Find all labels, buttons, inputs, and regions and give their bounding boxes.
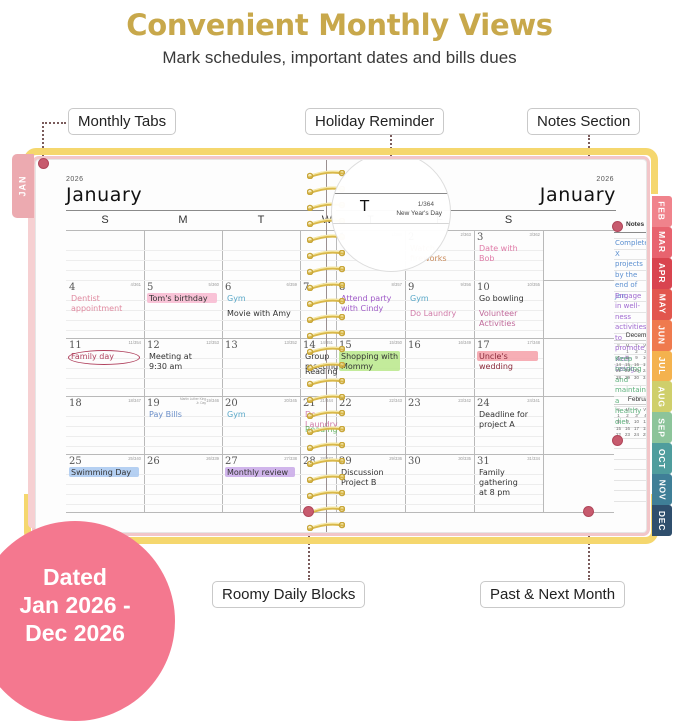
calendar-day-cell[interactable]: 3030/335 [405, 454, 474, 512]
event-text[interactable]: Attend party with Cindy [341, 294, 402, 314]
spiral-coil [307, 374, 345, 383]
mini-day[interactable] [632, 438, 641, 444]
day-number: 12 [147, 340, 160, 351]
day-number: 10 [477, 282, 490, 293]
event-text[interactable]: Discussion Project B [341, 468, 402, 488]
month-tab-oct[interactable]: OCT [652, 443, 672, 474]
day-counter: 11/354 [129, 340, 142, 345]
page-header: Convenient Monthly Views Mark schedules,… [0, 0, 679, 68]
notes-rule [614, 490, 646, 491]
event-text[interactable]: Family gathering at 8 pm [479, 468, 540, 498]
left-page-year: 2026 [66, 176, 84, 183]
day-number: 18 [69, 398, 82, 409]
event-text[interactable]: Monthly review [227, 468, 297, 478]
sidebar-tab-jan-label: JAN [18, 175, 28, 196]
month-tab-aug[interactable]: AUG [652, 381, 672, 412]
calendar-day-cell[interactable]: 1717/348Uncle's wedding [474, 338, 543, 396]
day-number: 27 [225, 456, 238, 467]
day-counter: 3/362 [530, 232, 540, 237]
right-page-month: January [540, 184, 616, 206]
notes-rule [614, 469, 646, 470]
month-tab-jun[interactable]: JUN [652, 320, 672, 351]
mini-month-table: SMTWTFS123456789101112131415161718192021… [614, 342, 646, 380]
spiral-coil [307, 390, 345, 399]
planner-spread: 2026 January 2026 January SMTWTFS 11/364… [24, 148, 658, 544]
spiral-coil [307, 486, 345, 495]
month-tab-label: MAY [657, 294, 667, 315]
month-tab-label: JUN [657, 325, 667, 344]
day-counter: 18/347 [128, 398, 141, 403]
day-counter: 13/352 [284, 340, 297, 345]
callout-roomy-daily-blocks: Roomy Daily Blocks [212, 581, 365, 608]
dated-range-badge: Dated Jan 2026 - Dec 2026 [0, 521, 175, 721]
spiral-coil [307, 294, 345, 303]
left-header-rule [66, 210, 324, 211]
mag-rule-mid [332, 223, 450, 224]
month-tab-nov[interactable]: NOV [652, 474, 672, 505]
day-of-week-6: S [499, 214, 519, 226]
calendar-day-cell[interactable]: 1616/349 [405, 338, 474, 396]
event-text[interactable]: Do Laundry [410, 309, 471, 319]
spiral-coil [307, 166, 345, 175]
mini-day[interactable]: 29 [623, 374, 632, 380]
day-counter: 20/345 [284, 398, 297, 403]
badge-line-3: Dec 2026 [0, 619, 175, 647]
notes-rule [614, 480, 646, 481]
day-counter: 26/339 [206, 456, 219, 461]
day-counter: 8/357 [392, 282, 402, 287]
mini-month-rule [614, 340, 646, 341]
day-counter: 27/338 [284, 456, 297, 461]
day-counter: 9/356 [461, 282, 471, 287]
mini-day[interactable]: 31 [641, 374, 646, 380]
mini-month-previous[interactable]: December 2025SMTWTFS12345678910111213141… [614, 332, 646, 380]
event-text[interactable]: Family day [71, 352, 141, 362]
calendar-day-cell[interactable]: 1010/355Go bowlingVolunteer Activities [474, 280, 543, 338]
calendar-day-cell[interactable]: 99/356GymDo Laundry [405, 280, 474, 338]
notes-dot-icon [612, 221, 623, 232]
notes-rule [614, 232, 646, 233]
month-tab-strip[interactable]: FEBMARAPRMAYJUNJULAUGSEPOCTNOVDEC [652, 196, 672, 536]
mag-day-counter: 1/364 [418, 201, 434, 208]
grid-vline-6 [543, 230, 544, 512]
spiral-coil [307, 358, 345, 367]
event-text[interactable]: Gym [227, 294, 297, 304]
notes-rule [614, 459, 646, 460]
month-tab-label: MAR [657, 231, 667, 253]
calendar-day-cell[interactable]: 1919/346Martin Luther King Jr. DayPay Bi… [144, 396, 222, 454]
day-number: 11 [69, 340, 82, 351]
spiral-coil [307, 518, 345, 527]
day-counter: 10/355 [527, 282, 540, 287]
calendar-day-cell[interactable]: 2323/342 [405, 396, 474, 454]
event-text[interactable]: Gym [410, 294, 471, 304]
spiral-coil [307, 454, 345, 463]
day-counter: 22/343 [389, 398, 402, 403]
mag-holiday-name: New Year's Day [396, 210, 442, 217]
day-counter: 25/340 [128, 456, 141, 461]
day-counter: 19/346 [206, 398, 219, 403]
month-tab-jul[interactable]: JUL [652, 351, 672, 382]
calendar-day-cell[interactable]: 1212/353Meeting at 9:30 am [144, 338, 222, 396]
day-number: 16 [408, 340, 421, 351]
mini-month-title: February 2026 [614, 396, 646, 403]
calendar-day-cell[interactable]: 1313/352 [222, 338, 300, 396]
spiral-coil [307, 470, 345, 479]
calendar-day-cell[interactable]: 2525/340Swimming Day [66, 454, 144, 512]
event-text[interactable]: Go bowling [479, 294, 540, 304]
left-page-month: January [66, 184, 142, 206]
month-tab-label: APR [657, 263, 667, 283]
calendar-day-cell[interactable]: 2020/345Gym [222, 396, 300, 454]
day-counter: 29/336 [389, 456, 402, 461]
calendar-day-cell[interactable]: 2626/339 [144, 454, 222, 512]
day-number: 20 [225, 398, 238, 409]
mini-day[interactable] [623, 438, 632, 444]
event-text[interactable]: Tom's birthday [149, 294, 219, 304]
planner-page: 2026 January 2026 January SMTWTFS 11/364… [36, 160, 646, 532]
month-tab-sep[interactable]: SEP [652, 412, 672, 443]
event-text[interactable]: Meeting at 9:30 am [149, 352, 219, 372]
page-subtitle: Mark schedules, important dates and bill… [0, 48, 679, 68]
month-tab-apr[interactable]: APR [652, 258, 672, 289]
day-number: 6 [225, 282, 231, 293]
callout-notes-section: Notes Section [527, 108, 640, 135]
day-counter: 4/361 [131, 282, 141, 287]
day-number: 5 [147, 282, 153, 293]
month-tab-label: AUG [657, 386, 667, 407]
day-of-week-1: M [173, 214, 193, 226]
daily-block-dot-icon [303, 506, 314, 517]
event-text[interactable]: Gym [227, 410, 297, 420]
event-text[interactable]: Swimming Day [71, 468, 141, 478]
calendar-day-cell[interactable]: 2727/338Monthly review [222, 454, 300, 512]
day-number: 19 [147, 398, 160, 409]
calendar-day-cell[interactable]: 44/361Dentist appointment [66, 280, 144, 338]
jan-tab-dot-icon [38, 158, 49, 169]
spiral-coil [307, 422, 345, 431]
day-number: 17 [477, 340, 490, 351]
callout-monthly-tabs: Monthly Tabs [68, 108, 176, 135]
spiral-coil [307, 262, 345, 271]
mag-day-letter: T [360, 197, 369, 215]
day-number: 26 [147, 456, 160, 467]
calendar-day-cell[interactable]: 33/362Date with Bob [474, 230, 543, 280]
event-text[interactable]: Uncle's wedding [479, 352, 540, 372]
day-counter: 12/353 [206, 340, 219, 345]
spiral-coil [307, 278, 345, 287]
day-counter: 23/342 [458, 398, 471, 403]
month-tab-dec[interactable]: DEC [652, 505, 672, 536]
mag-rule-top [332, 193, 450, 194]
day-counter: 15/350 [389, 340, 402, 345]
right-page-year: 2026 [596, 176, 614, 183]
mini-day[interactable]: 28 [614, 374, 623, 380]
spiral-coil [307, 406, 345, 415]
month-tab-label: OCT [657, 449, 667, 469]
month-tab-label: SEP [657, 418, 667, 437]
notes-label: Notes [626, 221, 644, 228]
mini-month-dot-icon [612, 435, 623, 446]
day-counter: 5/360 [209, 282, 219, 287]
badge-line-2: Jan 2026 - [0, 591, 175, 619]
spiral-coil [307, 310, 345, 319]
calendar-day-cell[interactable]: 66/359GymMovie with Amy [222, 280, 300, 338]
mini-day[interactable]: 30 [632, 374, 641, 380]
spiral-coil [307, 438, 345, 447]
day-counter: 31/334 [527, 456, 540, 461]
day-number: 24 [477, 398, 490, 409]
mini-day[interactable] [641, 438, 646, 444]
day-number: 13 [225, 340, 238, 351]
event-text[interactable]: Dentist appointment [71, 294, 141, 314]
day-number: 25 [69, 456, 82, 467]
day-number: 4 [69, 282, 75, 293]
callout-connector-monthly-tabs-h [42, 122, 66, 124]
month-tab-label: NOV [657, 479, 667, 500]
event-text[interactable]: Shopping with Mommy [341, 352, 402, 372]
callout-past-next-month: Past & Next Month [480, 581, 625, 608]
notes-rule [614, 501, 646, 502]
mini-month-title: December 2025 [614, 332, 646, 339]
month-tab-label: FEB [657, 202, 667, 221]
event-text[interactable]: Pay Bills [149, 410, 219, 420]
event-text[interactable]: Date with Bob [479, 244, 540, 264]
day-counter: 17/348 [527, 340, 540, 345]
day-counter: 30/335 [458, 456, 471, 461]
month-tab-label: DEC [657, 510, 667, 530]
month-tab-feb[interactable]: FEB [652, 196, 672, 227]
calendar-day-cell[interactable]: 55/360Tom's birthday [144, 280, 222, 338]
calendar-day-cell[interactable]: 1111/354Family day [66, 338, 144, 396]
spiral-coil [307, 342, 345, 351]
spiral-coil [307, 326, 345, 335]
day-holiday-label: Martin Luther King Jr. Day [176, 398, 206, 405]
day-number: 9 [408, 282, 414, 293]
day-counter: 24/341 [527, 398, 540, 403]
spiral-coil [307, 246, 345, 255]
month-tab-label: JUL [657, 357, 667, 375]
page-title: Convenient Monthly Views [0, 8, 679, 42]
event-text[interactable]: Deadline for project A [479, 410, 540, 430]
day-number: 30 [408, 456, 421, 467]
badge-line-1: Dated [0, 521, 175, 591]
day-number: 31 [477, 456, 490, 467]
day-counter: 16/349 [458, 340, 471, 345]
past-next-dot-icon [583, 506, 594, 517]
month-tab-mar[interactable]: MAR [652, 227, 672, 258]
day-counter: 6/359 [287, 282, 297, 287]
month-tab-may[interactable]: MAY [652, 289, 672, 320]
sidebar-tab-jan[interactable]: JAN [12, 154, 34, 218]
calendar-day-cell[interactable]: 1818/347 [66, 396, 144, 454]
day-counter: 2/363 [461, 232, 471, 237]
event-text[interactable]: Movie with Amy [227, 309, 297, 319]
day-number: 23 [408, 398, 421, 409]
event-text[interactable]: Volunteer Activities [479, 309, 540, 329]
day-of-week-2: T [251, 214, 271, 226]
calendar-sheet: 2026 January 2026 January SMTWTFS 11/364… [36, 160, 646, 532]
day-of-week-0: S [95, 214, 115, 226]
calendar-day-cell[interactable]: 3131/334Family gathering at 8 pm [474, 454, 543, 512]
day-number: 3 [477, 232, 483, 243]
calendar-day-cell[interactable]: 2424/341Deadline for project A [474, 396, 543, 454]
callout-holiday-reminder: Holiday Reminder [305, 108, 444, 135]
notes-rule [614, 448, 646, 449]
mini-month-rule [614, 404, 646, 405]
